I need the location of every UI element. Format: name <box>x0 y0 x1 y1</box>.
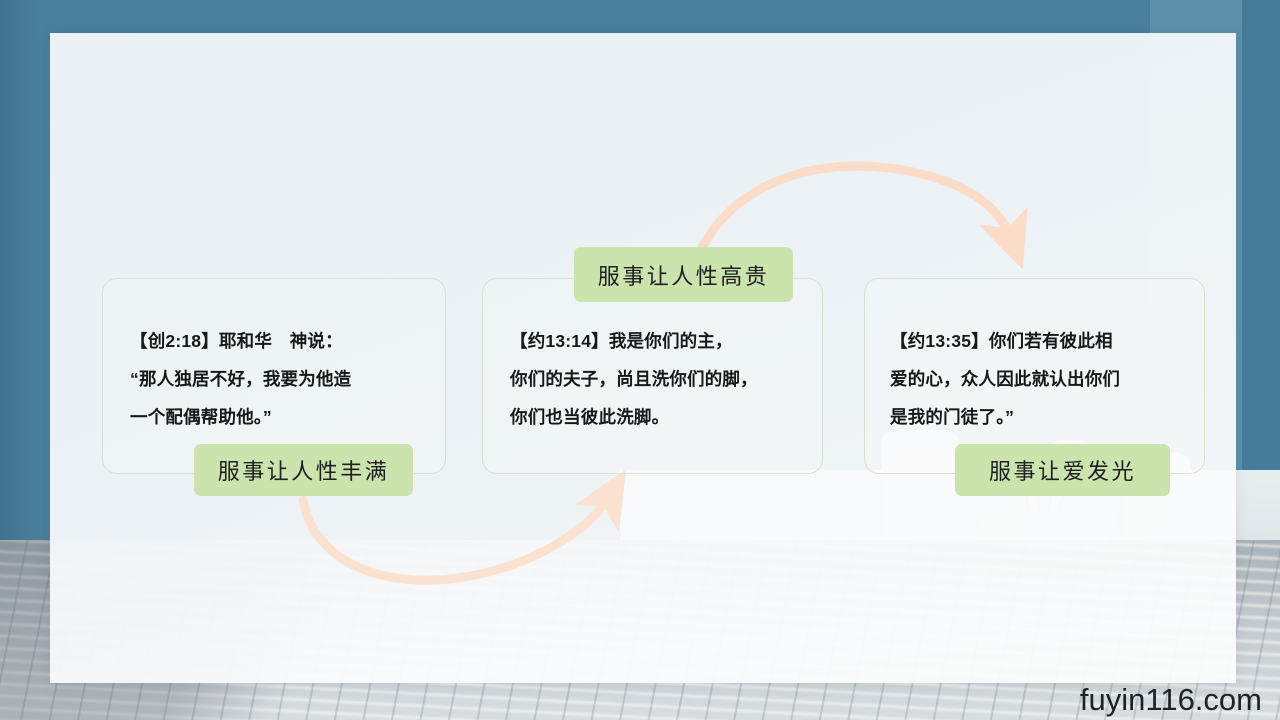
watermark: fuyin116.com <box>1080 682 1262 718</box>
verse-card-1-text: 【创2:18】耶和华 神说： “那人独居不好，我要为他造 一个配偶帮助他。” <box>130 322 430 436</box>
verse-card-3-text: 【约13:35】你们若有彼此相 爱的心，众人因此就认出你们 是我的门徒了。” <box>890 322 1190 436</box>
slide-canvas: 【创2:18】耶和华 神说： “那人独居不好，我要为他造 一个配偶帮助他。” 【… <box>0 0 1280 720</box>
label-service-dignifies-humanity[interactable]: 服事让人性高贵 <box>574 247 793 302</box>
label-service-makes-love-shine[interactable]: 服事让爱发光 <box>955 444 1170 496</box>
label-service-enriches-humanity-text: 服事让人性丰满 <box>218 454 390 486</box>
wall-panel-far-right <box>1242 0 1280 548</box>
label-service-enriches-humanity[interactable]: 服事让人性丰满 <box>194 444 413 496</box>
wall-shadow-left <box>0 0 42 548</box>
verse-card-2-text: 【约13:14】我是你们的主， 你们的夫子，尚且洗你们的脚， 你们也当彼此洗脚。 <box>510 322 815 436</box>
label-service-makes-love-shine-text: 服事让爱发光 <box>989 454 1136 486</box>
label-service-dignifies-humanity-text: 服事让人性高贵 <box>598 259 770 291</box>
